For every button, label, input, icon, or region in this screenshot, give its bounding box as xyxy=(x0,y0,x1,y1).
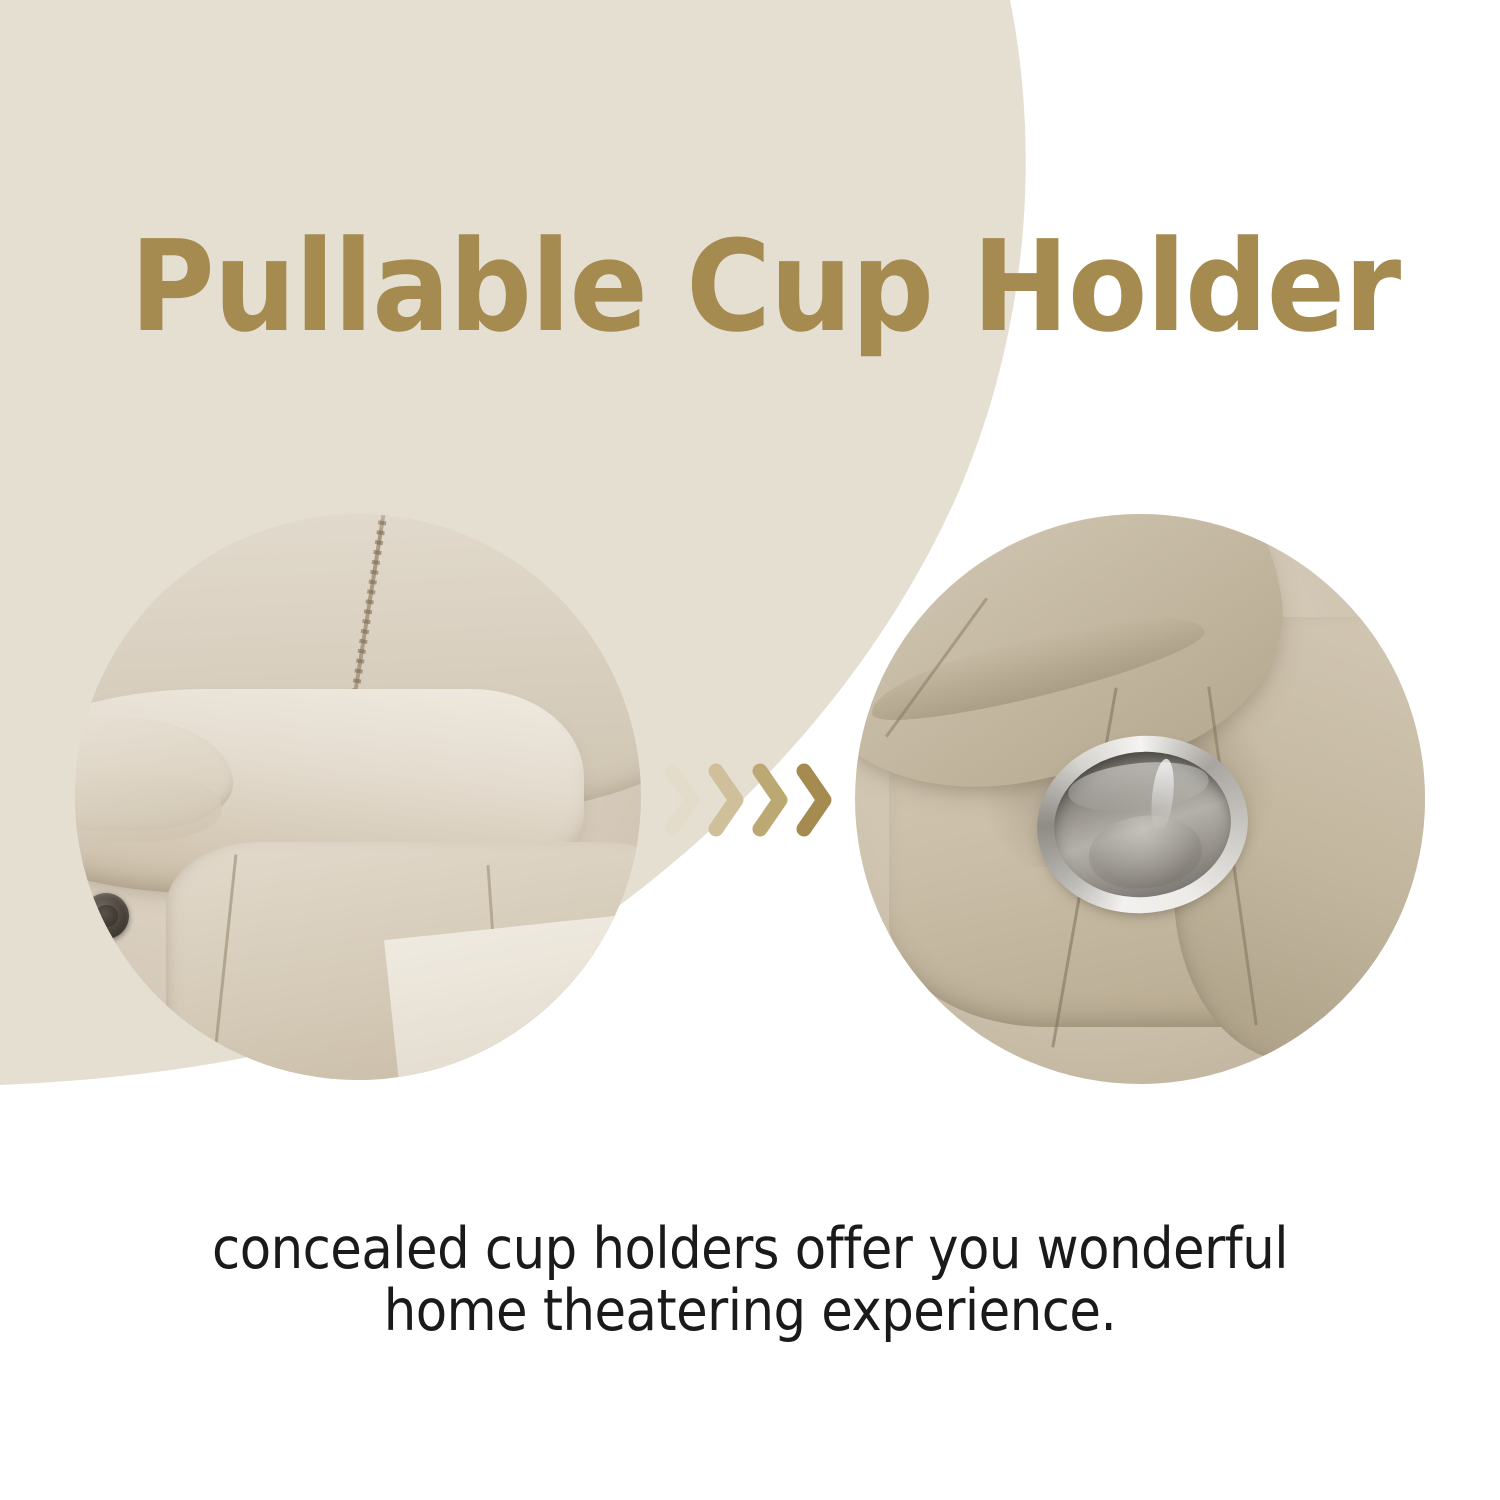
product-feature-card: Pullable Cup Holder xyxy=(0,0,1500,1500)
stainless-steel-cup-insert xyxy=(1029,726,1257,924)
page-title: Pullable Cup Holder xyxy=(130,222,1415,352)
chevron-right-icon xyxy=(794,763,834,837)
before-image-closed-cup-holder xyxy=(75,514,641,1080)
chevron-right-icon xyxy=(706,763,746,837)
pull-out-direction-arrows xyxy=(662,760,838,840)
caption-line-2: home theatering experience. xyxy=(150,1280,1350,1342)
recliner-armrest-photo xyxy=(75,514,641,1080)
after-image-open-cup-holder xyxy=(855,514,1425,1084)
chevron-right-icon xyxy=(662,763,702,837)
open-armrest-photo xyxy=(855,514,1425,1084)
caption-line-1: concealed cup holders offer you wonderfu… xyxy=(212,1216,1288,1282)
feature-caption: concealed cup holders offer you wonderfu… xyxy=(150,1218,1350,1342)
chevron-right-icon xyxy=(750,763,790,837)
